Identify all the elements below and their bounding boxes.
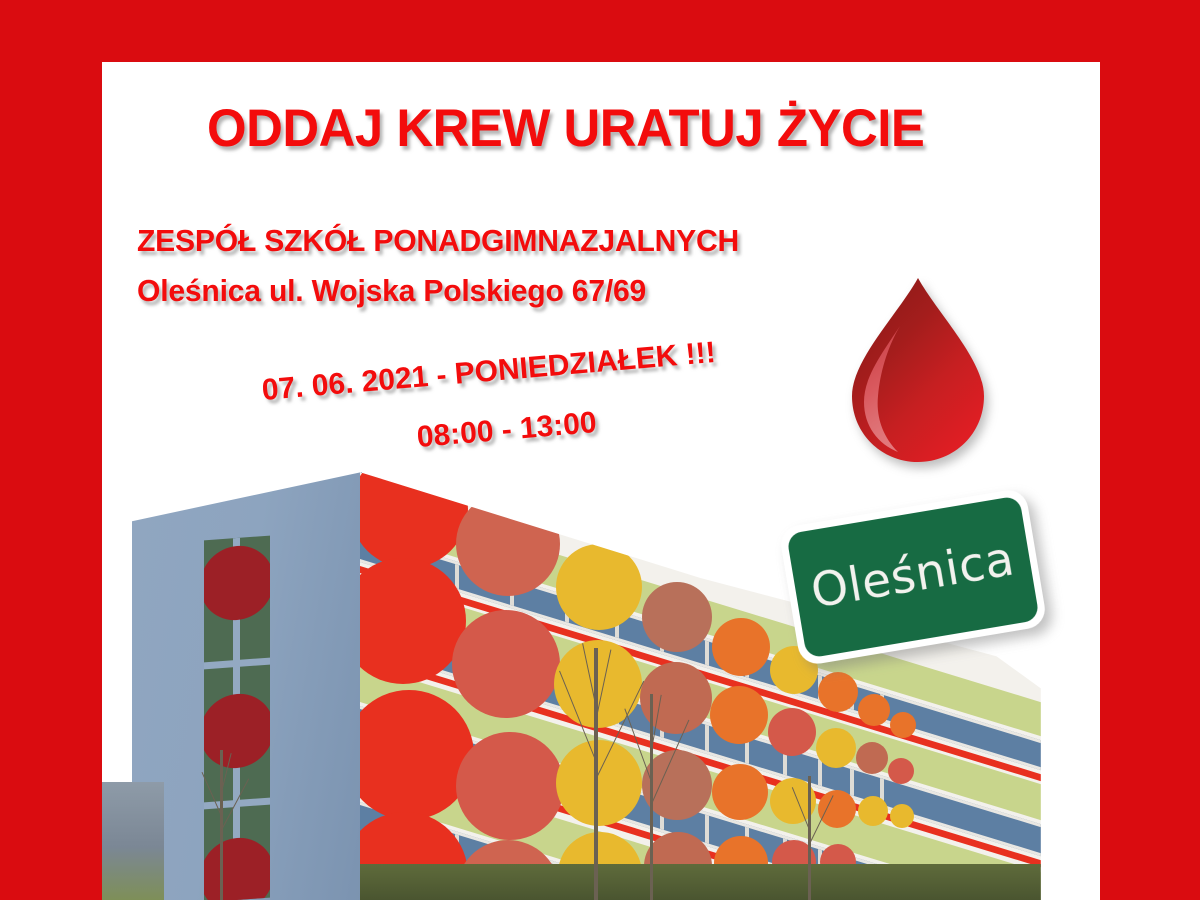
facade-circle [890, 804, 914, 828]
poster-root: ODDAJ KREW URATUJ ŻYCIE ZESPÓŁ SZKÓŁ PON… [0, 0, 1200, 900]
neighbouring-building [102, 782, 164, 900]
facade-circle [818, 672, 858, 712]
page-title: ODDAJ KREW URATUJ ŻYCIE [207, 98, 924, 159]
facade-circle [890, 712, 916, 738]
tree [808, 776, 811, 900]
tree [650, 694, 653, 900]
facade-circle [858, 796, 888, 826]
gable-circle [204, 835, 270, 900]
facade-circle [456, 732, 564, 840]
ground-strip [360, 864, 1100, 900]
window-mullion [850, 769, 854, 796]
facade-circle [710, 686, 768, 744]
facade-circle [452, 610, 560, 718]
tree [594, 648, 598, 900]
facade-circle [712, 618, 770, 676]
gable-window-strip [204, 536, 270, 900]
facade-circle [858, 694, 890, 726]
poster-content-area: ODDAJ KREW URATUJ ŻYCIE ZESPÓŁ SZKÓŁ PON… [102, 62, 1100, 900]
tree [220, 750, 223, 900]
window-mullion [705, 814, 709, 843]
event-date: 07. 06. 2021 - PONIEDZIAŁEK !!! [261, 336, 717, 408]
gable-circle [204, 691, 270, 770]
blood-drop-body [852, 278, 984, 462]
facade-circle [712, 764, 768, 820]
organization-address: Oleśnica ul. Wojska Polskiego 67/69 [137, 273, 646, 309]
window-mullion [705, 724, 709, 751]
window-mullion [818, 759, 822, 786]
facade-circle [554, 640, 642, 728]
facade-circle [556, 740, 642, 826]
building-gable-wall [132, 472, 362, 900]
facade-circle [856, 742, 888, 774]
facade-circle [888, 758, 914, 784]
facade-circle [818, 790, 856, 828]
facade-circle [816, 728, 856, 768]
gable-circle [204, 543, 270, 622]
facade-circle [556, 544, 642, 630]
window-mullion [705, 640, 709, 665]
organization-name: ZESPÓŁ SZKÓŁ PONADGIMNAZJALNYCH [137, 223, 739, 259]
facade-circle [642, 582, 712, 652]
facade-circle [768, 708, 816, 756]
blood-drop-icon [842, 274, 994, 466]
